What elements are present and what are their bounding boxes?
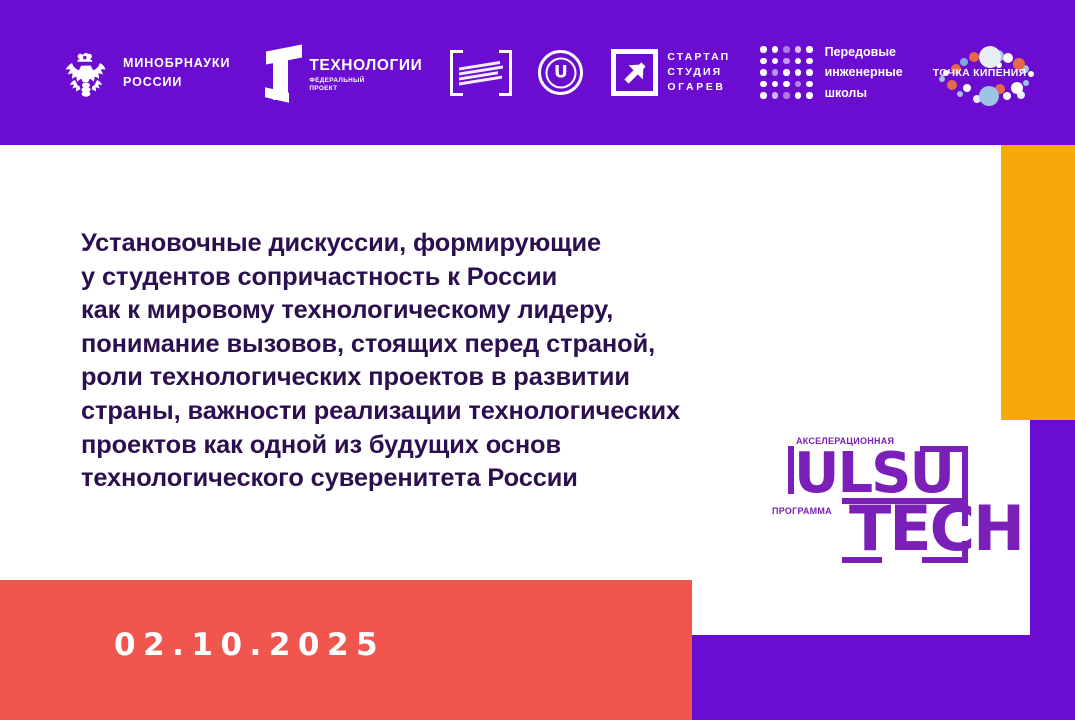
brackets-lines-icon — [450, 50, 512, 96]
tehnologii-mark-icon — [260, 48, 302, 100]
logo-inzhenernye-shkoly: Передовые инженерные школы — [760, 42, 902, 103]
yellow-accent-block — [1001, 145, 1075, 420]
slide-headline: Установочные дискуссии, формирующиеу сту… — [81, 227, 781, 496]
logo-tehnologii-text: ТЕХНОЛОГИИ ФЕДЕРАЛЬНЫЙ ПРОЕКТ — [309, 45, 422, 94]
dot-grid-cell — [772, 69, 778, 75]
dot-grid-cell — [760, 46, 766, 52]
dot-grid-cell — [806, 58, 812, 64]
ulsu-tech-logo: АКСЕЛЕРАЦИОННАЯ ПРОГРАММА ULSU TECH — [772, 436, 987, 561]
dot-grid-cell — [783, 81, 789, 87]
cluster-dot — [1003, 53, 1013, 63]
cluster-dot — [957, 91, 963, 97]
dot-grid-cell — [772, 58, 778, 64]
arrow-square-icon — [611, 49, 658, 96]
dot-grid-cell — [772, 92, 778, 98]
logo-frame-segment — [962, 446, 968, 498]
headline-line: у студентов сопричастность к России — [81, 261, 781, 295]
dot-grid-cell — [795, 81, 801, 87]
dot-grid-cell — [783, 58, 789, 64]
logo-tehnologii-subtitle: ФЕДЕРАЛЬНЫЙ ПРОЕКТ — [309, 77, 422, 94]
dot-grid-cell — [772, 46, 778, 52]
cluster-dot — [979, 46, 1001, 68]
dot-grid-cell — [795, 58, 801, 64]
dot-grid-cell — [795, 69, 801, 75]
logo-platforma — [450, 50, 512, 96]
slide-root: МИНОБРНАУКИ РОССИИ ТЕХНОЛОГИИ ФЕДЕРАЛЬНЫ… — [0, 0, 1075, 720]
cluster-dot — [969, 52, 979, 62]
dot-grid-cell — [806, 46, 812, 52]
dot-grid-cell — [772, 81, 778, 87]
dot-grid-cell — [795, 46, 801, 52]
circle-u-icon: U — [538, 50, 583, 95]
partner-logo-bar: МИНОБРНАУКИ РОССИИ ТЕХНОЛОГИИ ФЕДЕРАЛЬНЫ… — [0, 0, 1075, 145]
headline-line: технологического суверенитета России — [81, 462, 781, 496]
dot-grid-cell — [783, 46, 789, 52]
logo-minobrnauki-line2: РОССИИ — [123, 73, 230, 91]
ulsu-label-programma: ПРОГРАММА — [772, 506, 832, 516]
dot-grid-cell — [760, 69, 766, 75]
dot-grid-cell — [806, 81, 812, 87]
cluster-dot — [960, 58, 968, 66]
dot-grid-cell — [760, 92, 766, 98]
double-headed-eagle-icon — [60, 47, 112, 99]
dot-grid-cell — [783, 92, 789, 98]
logo-university-circle: U — [538, 50, 583, 95]
logo-tochka-kipeniya: ТОЧКА КИПЕНИЯ — [933, 44, 1038, 102]
headline-line: проектов как одной из будущих основ — [81, 429, 781, 463]
logo-startap-studiya-text: СТАРТАП СТУДИЯ ОГАРЕВ — [667, 50, 730, 95]
logo-tehnologii-title: ТЕХНОЛОГИИ — [309, 57, 422, 75]
headline-line: роли технологических проектов в развитии — [81, 361, 781, 395]
cluster-dot — [1003, 92, 1011, 100]
logo-minobrnauki-text: МИНОБРНАУКИ РОССИИ — [123, 54, 230, 90]
event-date: 02.10.2025 — [114, 627, 385, 663]
logo-minobrnauki: МИНОБРНАУКИ РОССИИ — [60, 47, 230, 99]
headline-line: страны, важности реализации технологичес… — [81, 395, 781, 429]
dot-grid-cell — [795, 92, 801, 98]
headline-line: Установочные дискуссии, формирующие — [81, 227, 781, 261]
cluster-dot — [1011, 82, 1023, 94]
tech-wordmark: TECH — [849, 498, 1023, 560]
cluster-dot — [979, 86, 999, 106]
headline-line: как к мировому технологическому лидеру, — [81, 294, 781, 328]
headline-line: понимание вызовов, стоящих перед страной… — [81, 328, 781, 362]
dot-grid-cell — [806, 92, 812, 98]
logo-tochka-kipeniya-text: ТОЧКА КИПЕНИЯ — [933, 67, 1027, 79]
dot-grid-cell — [760, 81, 766, 87]
logo-minobrnauki-line1: МИНОБРНАУКИ — [123, 54, 230, 72]
logo-tehnologii: ТЕХНОЛОГИИ ФЕДЕРАЛЬНЫЙ ПРОЕКТ — [260, 45, 422, 100]
logo-startap-studiya: СТАРТАП СТУДИЯ ОГАРЕВ — [611, 49, 730, 96]
cluster-dot — [1023, 80, 1029, 86]
dot-grid-icon — [760, 46, 812, 98]
dot-grid-cell — [806, 69, 812, 75]
cluster-dot — [947, 80, 957, 90]
cluster-dot — [1028, 71, 1034, 77]
dot-grid-cell — [760, 58, 766, 64]
dot-cluster-icon: ТОЧКА КИПЕНИЯ — [933, 44, 1038, 102]
circle-u-glyph: U — [554, 62, 568, 82]
cluster-dot — [963, 84, 971, 92]
dot-grid-cell — [783, 69, 789, 75]
logo-inzhenernye-shkoly-text: Передовые инженерные школы — [825, 42, 903, 103]
